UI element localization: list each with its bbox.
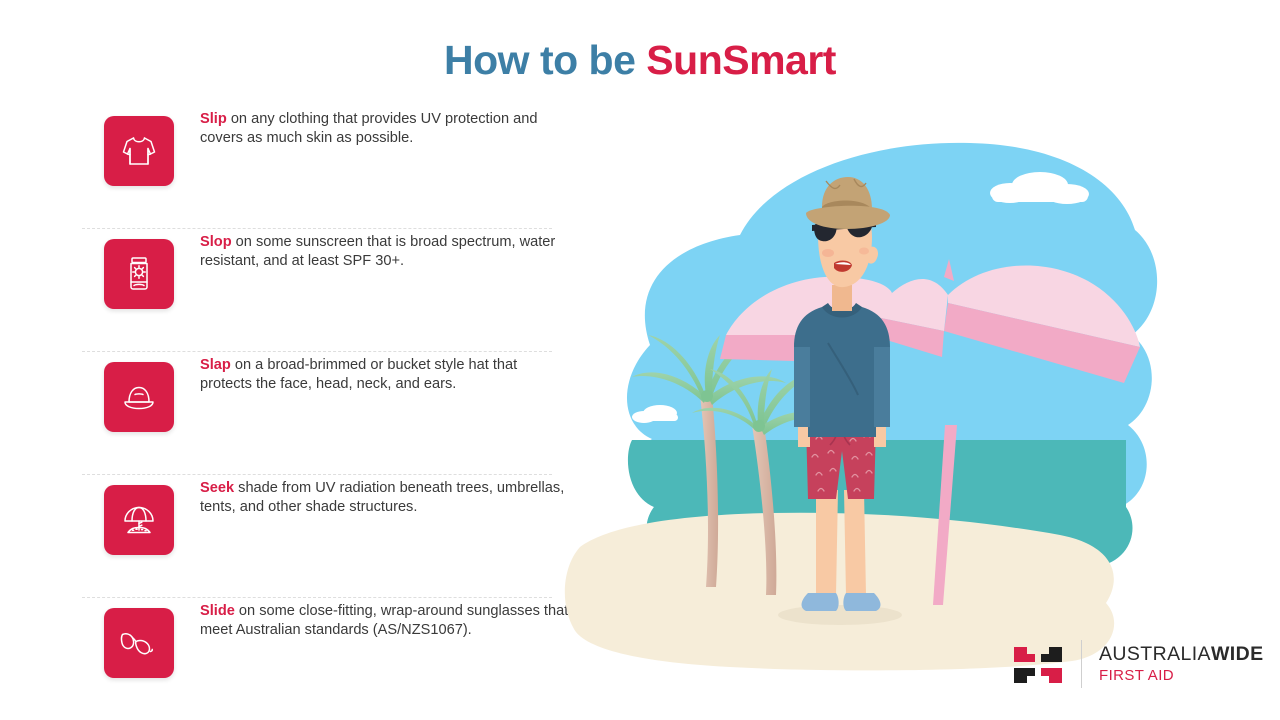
logo-line-2: FIRST AID <box>1099 666 1263 685</box>
page-title: How to be SunSmart <box>0 38 1280 83</box>
tip-icon-tile-slide <box>104 608 174 678</box>
long-sleeve-shirt <box>794 303 890 437</box>
long-sleeve-shirt-icon <box>116 128 162 174</box>
infographic-page: How to be SunSmart Slip on any clothing … <box>0 0 1280 720</box>
logo-wide: WIDE <box>1211 643 1264 665</box>
tip-keyword-slide: Slide <box>200 603 235 619</box>
tip-icon-tile-slop <box>104 239 174 309</box>
tip-row-slide: Slide on some close-fitting, wrap-around… <box>82 598 572 720</box>
sunglasses-icon <box>116 620 162 666</box>
tip-icon-tile-slap <box>104 362 174 432</box>
tip-text-slap: Slap on a broad-brimmed or bucket style … <box>200 356 572 393</box>
tip-text-seek: Seek shade from UV radiation beneath tre… <box>200 479 572 516</box>
tip-body-slip: on any clothing that provides UV protect… <box>200 111 537 146</box>
tip-text-slop: Slop on some sunscreen that is broad spe… <box>200 233 572 270</box>
beach-umbrella-icon <box>116 497 162 543</box>
sunscreen-tube-icon <box>116 251 162 297</box>
logo-divider <box>1081 640 1082 688</box>
tip-icon-tile-seek <box>104 485 174 555</box>
tip-body-slop: on some sunscreen that is broad spectrum… <box>200 234 555 269</box>
logo-wordmark: AUSTRALIAWIDE FIRST AID <box>1099 642 1263 685</box>
cloud-left <box>646 184 723 210</box>
title-accent: SunSmart <box>646 37 836 83</box>
tip-row-seek: Seek shade from UV radiation beneath tre… <box>82 475 572 597</box>
tip-row-slap: Slap on a broad-brimmed or bucket style … <box>82 352 572 474</box>
tip-row-slop: Slop on some sunscreen that is broad spe… <box>82 229 572 351</box>
tip-body-slap: on a broad-brimmed or bucket style hat t… <box>200 357 517 392</box>
brand-logo[interactable]: AUSTRALIAWIDE FIRST AID <box>1013 636 1263 692</box>
logo-australia: AUSTRALIA <box>1099 643 1211 665</box>
tip-text-slide: Slide on some close-fitting, wrap-around… <box>200 602 572 639</box>
tip-text-slip: Slip on any clothing that provides UV pr… <box>200 110 572 147</box>
tip-keyword-slip: Slip <box>200 111 227 127</box>
sunsmart-tips-list: Slip on any clothing that provides UV pr… <box>82 106 572 720</box>
bucket-hat-icon <box>116 374 162 420</box>
logo-line-1: AUSTRALIAWIDE <box>1099 642 1263 666</box>
tip-keyword-slop: Slop <box>200 234 232 250</box>
tip-keyword-slap: Slap <box>200 357 231 373</box>
tip-body-slide: on some close-fitting, wrap-around sungl… <box>200 603 568 638</box>
tip-keyword-seek: Seek <box>200 480 234 496</box>
tip-body-seek: shade from UV radiation beneath trees, u… <box>200 480 564 515</box>
tip-row-slip: Slip on any clothing that provides UV pr… <box>82 106 572 228</box>
tip-icon-tile-slip <box>104 116 174 186</box>
first-aid-cross-logo-icon <box>1013 640 1063 690</box>
beach-illustration <box>540 95 1160 675</box>
title-primary: How to be <box>444 37 646 83</box>
